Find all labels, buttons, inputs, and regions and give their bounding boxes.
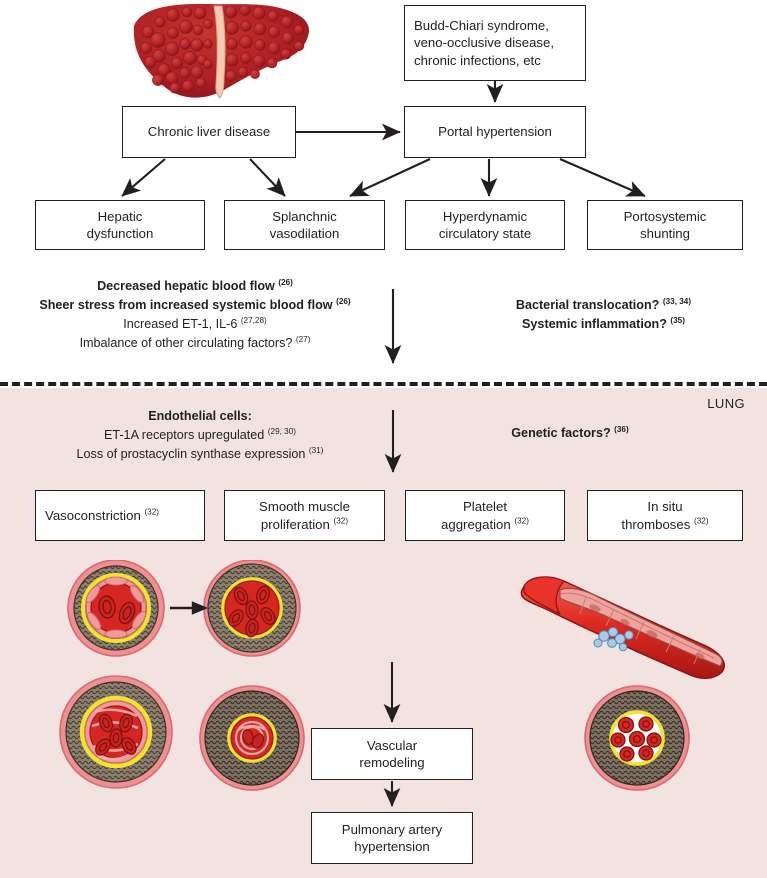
consequence-box-portosystemic-shunting: Portosystemic shunting xyxy=(587,200,743,250)
mechanism-box-smooth-muscle-proliferation: Smooth muscle proliferation (32) xyxy=(224,490,385,541)
causes-box: Budd-Chiari syndrome, veno-occlusive dis… xyxy=(404,5,586,81)
endothelial-line-3: Loss of prostacyclin synthase expression… xyxy=(35,445,365,464)
arrow-portal-to-portosystemic xyxy=(560,159,645,196)
mechanism-line-1: Platelet xyxy=(463,498,507,515)
mechanism-line-1: Smooth muscle xyxy=(259,498,350,515)
endothelial-text: Endothelial cells: ET-1A receptors upreg… xyxy=(35,408,365,464)
mediator-line-3: Increased ET-1, IL-6 (27,28) xyxy=(0,315,390,334)
vessel-illustrations-group xyxy=(0,560,767,830)
endothelial-line-2: ET-1A receptors upregulated (29, 30) xyxy=(35,426,365,445)
mechanism-box-platelet-aggregation: Platelet aggregation (32) xyxy=(405,490,565,541)
mechanism-box-vasoconstriction: Vasoconstriction (32) xyxy=(35,490,205,541)
consequence-line-1: Portosystemic xyxy=(624,208,707,225)
consequence-line-1: Hyperdynamic xyxy=(443,208,527,225)
endothelial-line-1: Endothelial cells: xyxy=(35,408,365,426)
causes-line-2: veno-occlusive disease, xyxy=(414,34,554,51)
causes-line-1: Budd-Chiari syndrome, xyxy=(414,17,549,34)
mechanism-line-1: In situ xyxy=(647,498,682,515)
chronic-liver-disease-label: Chronic liver disease xyxy=(148,123,270,140)
smooth-muscle-proliferation-cross-section xyxy=(60,676,172,788)
mediator-text-left: Decreased hepatic blood flow (26) Sheer … xyxy=(0,277,390,353)
mechanism-line-2: proliferation (32) xyxy=(261,516,348,533)
mechanism-box-in-situ-thromboses: In situ thromboses (32) xyxy=(587,490,743,541)
consequence-box-hepatic-dysfunction: Hepatic dysfunction xyxy=(35,200,205,250)
consequence-line-2: circulatory state xyxy=(439,225,531,242)
arrow-portal-to-splanchnic xyxy=(350,159,430,196)
lung-label: LUNG xyxy=(707,396,745,411)
mechanism-line-2: thromboses (32) xyxy=(621,516,708,533)
consequence-line-1: Hepatic xyxy=(98,208,143,225)
genetic-factors-line-1: Genetic factors? (36) xyxy=(430,424,710,443)
normal-arteriole-cross-section xyxy=(68,560,164,656)
consequence-box-splanchnic-vasodilation: Splanchnic vasodilation xyxy=(224,200,385,250)
consequence-line-2: dysfunction xyxy=(87,225,154,242)
arrow-cld-to-hepatic xyxy=(122,159,165,196)
arrow-cld-to-splanchnic xyxy=(250,159,285,196)
mediator-line-2: Sheer stress from increased systemic blo… xyxy=(0,296,390,315)
mediator-line-1: Decreased hepatic blood flow (26) xyxy=(0,277,390,296)
genetic-factors-text: Genetic factors? (36) xyxy=(430,424,710,443)
cirrhotic-liver-illustration xyxy=(128,0,314,104)
progression-arrow xyxy=(170,603,205,613)
mechanism-label: Vasoconstriction (32) xyxy=(45,507,159,524)
chronic-liver-disease-box: Chronic liver disease xyxy=(122,106,296,158)
mediator-right-line-2: Systemic inflammation? (35) xyxy=(440,315,767,334)
vasoconstricted-arteriole-cross-section xyxy=(204,560,300,656)
consequence-line-1: Splanchnic xyxy=(272,208,337,225)
severely-remodeled-vessel-cross-section xyxy=(200,686,304,790)
mediator-right-line-1: Bacterial translocation? (33, 34) xyxy=(440,296,767,315)
outcome-line-2: hypertension xyxy=(354,838,430,855)
causes-line-3: chronic infections, etc xyxy=(414,52,541,69)
consequence-line-2: vasodilation xyxy=(270,225,340,242)
mediator-line-4: Imbalance of other circulating factors? … xyxy=(0,334,390,353)
in-situ-thrombosis-cross-section xyxy=(585,686,689,790)
compartment-divider xyxy=(0,382,767,386)
portal-hypertension-box: Portal hypertension xyxy=(404,106,586,158)
mechanism-line-2: aggregation (32) xyxy=(441,516,529,533)
platelet-aggregation-vessel-cutaway xyxy=(521,577,724,678)
consequence-box-hyperdynamic-circulatory-state: Hyperdynamic circulatory state xyxy=(405,200,565,250)
mediator-text-right: Bacterial translocation? (33, 34) System… xyxy=(440,296,767,334)
portal-hypertension-label: Portal hypertension xyxy=(438,123,552,140)
consequence-line-2: shunting xyxy=(640,225,690,242)
figure-canvas: LUNG xyxy=(0,0,767,878)
